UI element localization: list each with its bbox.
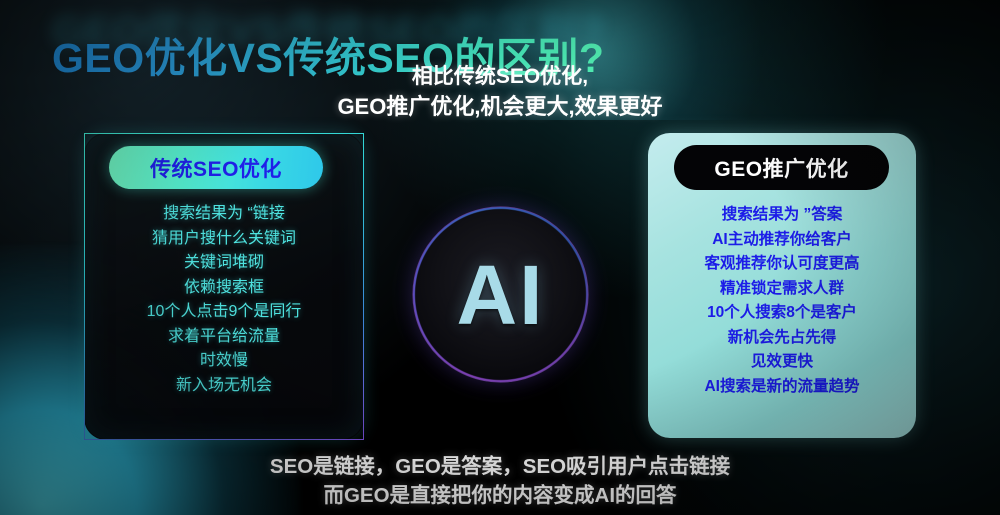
bottom-caption-line-1: SEO是链接，GEO是答案，SEO吸引用户点击链接: [0, 452, 1000, 481]
list-item: 10个人搜索8个是客户: [648, 301, 916, 326]
subtitle-line-2: GEO推广优化,机会更大,效果更好: [0, 92, 1000, 122]
list-item: AI搜索是新的流量趋势: [648, 375, 916, 400]
card-geo-promotion-header-label: GEO推广优化: [714, 153, 848, 183]
slide-root: GEO优化VS传统SEO的区别? GEO优化VS传统SEO的区别? 相比传统SE…: [0, 0, 1000, 515]
ai-badge-circle: AI: [414, 208, 587, 381]
list-item: 精准锁定需求人群: [648, 277, 916, 302]
list-item: 见效更快: [648, 350, 916, 375]
list-item: 新入场无机会: [85, 374, 363, 399]
subtitle-line-1: 相比传统SEO优化,: [0, 62, 1000, 92]
list-item: 10个人点击9个是同行: [85, 300, 363, 325]
card-traditional-seo: 传统SEO优化 搜索结果为 “链接 猜用户搜什么关键词 关键词堆砌 依赖搜索框 …: [84, 133, 364, 440]
list-item: 求着平台给流量: [85, 325, 363, 350]
bottom-caption: SEO是链接，GEO是答案，SEO吸引用户点击链接 而GEO是直接把你的内容变成…: [0, 452, 1000, 510]
card-traditional-seo-header: 传统SEO优化: [109, 146, 323, 189]
geo-promotion-list: 搜索结果为 ”答案 AI主动推荐你给客户 客观推荐你认可度更高 精准锁定需求人群…: [648, 203, 916, 399]
list-item: 猜用户搜什么关键词: [85, 227, 363, 252]
subtitle: 相比传统SEO优化, GEO推广优化,机会更大,效果更好: [0, 62, 1000, 122]
card-traditional-seo-inner: 传统SEO优化 搜索结果为 “链接 猜用户搜什么关键词 关键词堆砌 依赖搜索框 …: [85, 134, 363, 439]
list-item: 客观推荐你认可度更高: [648, 252, 916, 277]
list-item: 搜索结果为 “链接: [85, 202, 363, 227]
list-item: 搜索结果为 ”答案: [648, 203, 916, 228]
list-item: AI主动推荐你给客户: [648, 228, 916, 253]
list-item: 依赖搜索框: [85, 276, 363, 301]
list-item: 关键词堆砌: [85, 251, 363, 276]
card-geo-promotion: GEO推广优化 搜索结果为 ”答案 AI主动推荐你给客户 客观推荐你认可度更高 …: [648, 133, 916, 438]
ai-badge-label: AI: [457, 253, 545, 337]
list-item: 时效慢: [85, 349, 363, 374]
bottom-caption-line-2: 而GEO是直接把你的内容变成AI的回答: [0, 481, 1000, 510]
card-geo-promotion-header: GEO推广优化: [674, 145, 889, 190]
traditional-seo-list: 搜索结果为 “链接 猜用户搜什么关键词 关键词堆砌 依赖搜索框 10个人点击9个…: [85, 202, 363, 398]
list-item: 新机会先占先得: [648, 326, 916, 351]
ai-badge: AI: [414, 208, 587, 381]
card-traditional-seo-header-label: 传统SEO优化: [150, 153, 282, 183]
